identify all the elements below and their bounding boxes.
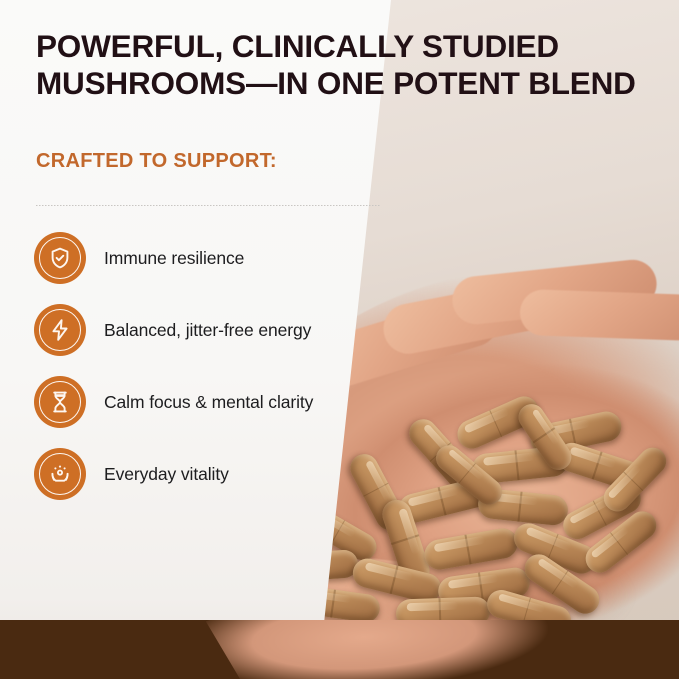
list-item-label: Everyday vitality — [104, 464, 229, 485]
hourglass-icon — [34, 376, 86, 428]
subheading: CRAFTED TO SUPPORT: — [36, 150, 277, 173]
list-item-label: Immune resilience — [104, 248, 244, 269]
list-item-label: Calm focus & mental clarity — [104, 392, 313, 413]
list-item: Immune resilience — [34, 232, 313, 284]
shield-check-icon — [34, 232, 86, 284]
vitality-hands-icon — [34, 448, 86, 500]
page-title: POWERFUL, CLINICALLY STUDIED MUSHROOMS—I… — [36, 28, 646, 103]
list-item-label: Balanced, jitter-free energy — [104, 320, 311, 341]
list-item: Calm focus & mental clarity — [34, 376, 313, 428]
hand-finger — [519, 289, 679, 341]
feature-list: Immune resilience Balanced, jitter-free … — [34, 232, 313, 500]
list-item: Balanced, jitter-free energy — [34, 304, 313, 356]
lightning-bolt-icon — [34, 304, 86, 356]
list-item: Everyday vitality — [34, 448, 313, 500]
divider — [36, 204, 381, 206]
product-infographic: POWERFUL, CLINICALLY STUDIED MUSHROOMS—I… — [0, 0, 679, 679]
